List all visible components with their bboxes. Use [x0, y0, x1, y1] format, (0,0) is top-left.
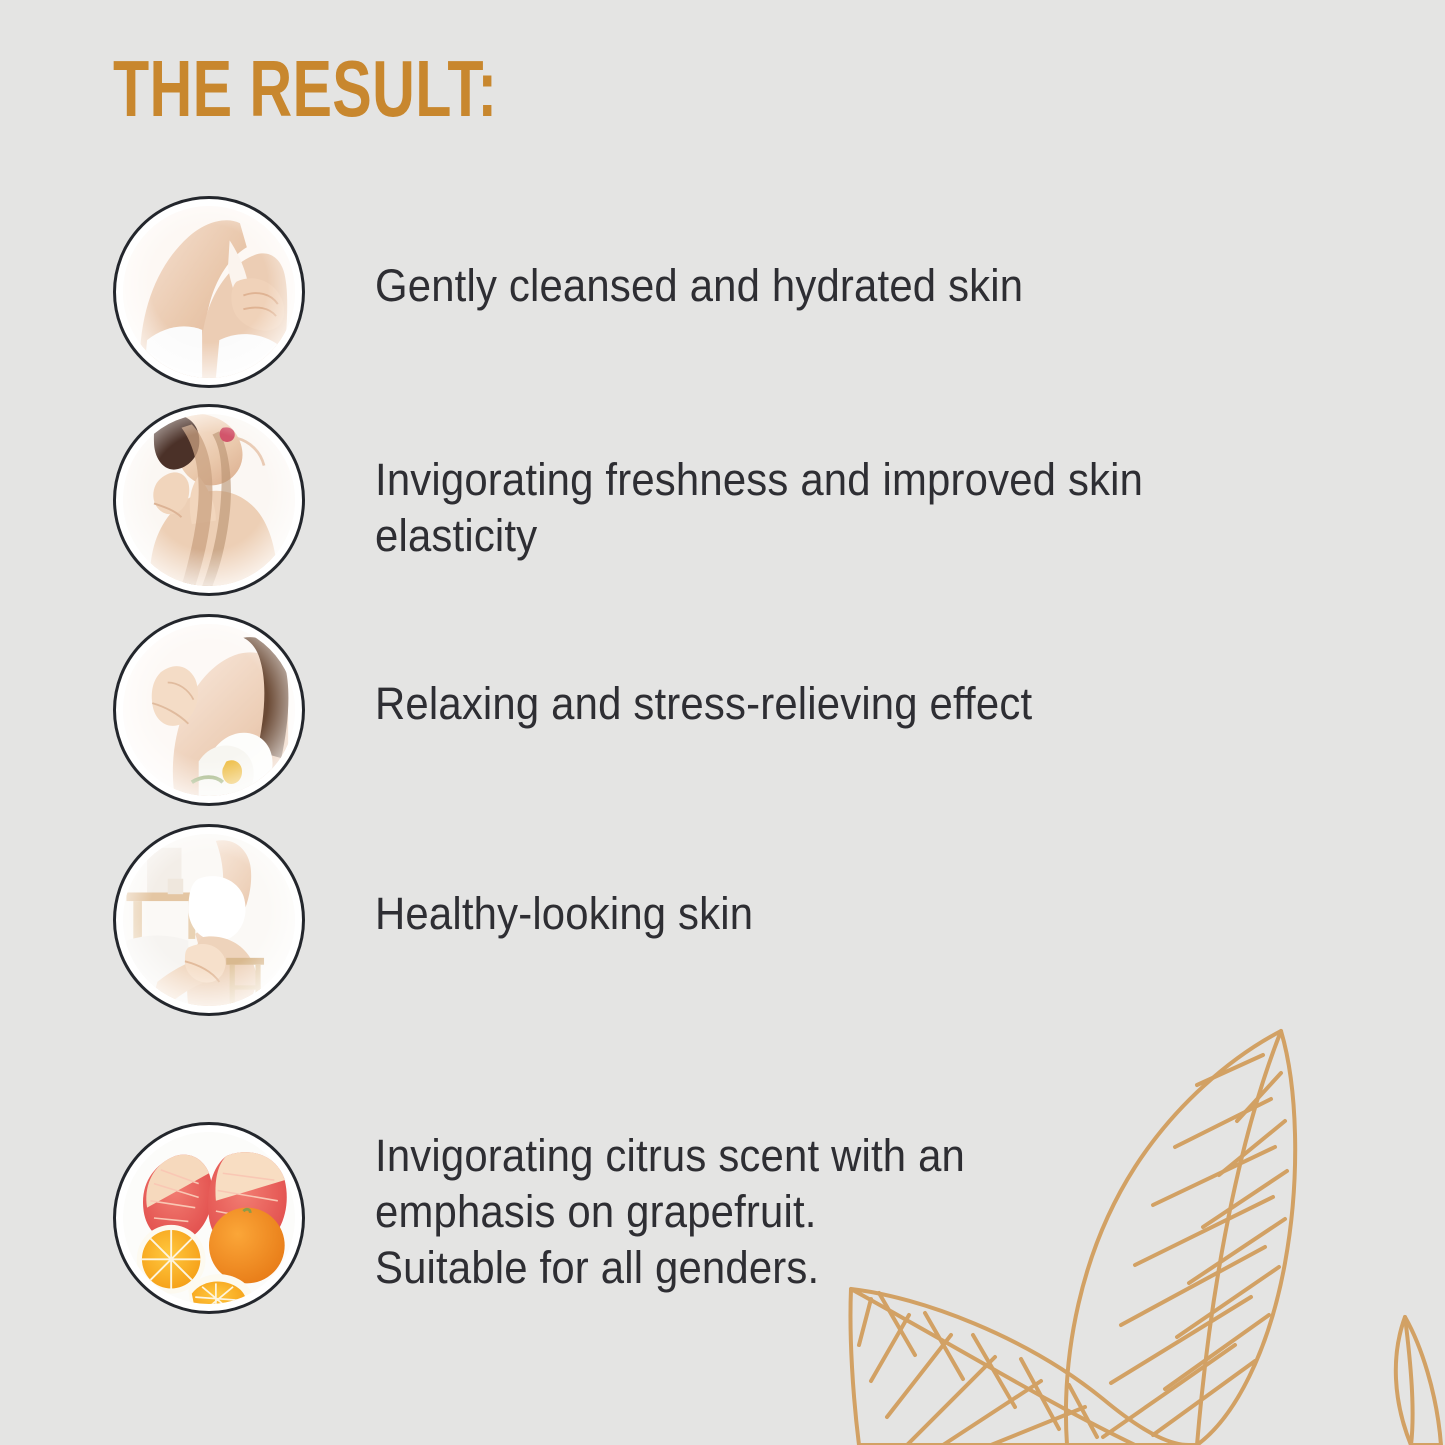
thumbnail-image-citrus-fruits: [123, 1132, 295, 1304]
list-item: Gently cleansed and hydrated skin: [113, 196, 1363, 388]
benefit-label: Healthy-looking skin: [375, 886, 753, 942]
photo-woman-applying-cream-icon: [123, 206, 295, 378]
result-benefits-poster: THE RESULT:: [0, 0, 1445, 1445]
thumbnail-image-bathroom-leg-care: [123, 834, 295, 1006]
benefit-thumbnail-gently-cleansed: [113, 196, 305, 388]
list-item: Healthy-looking skin: [113, 824, 1363, 1016]
benefit-thumbnail-healthy-looking-skin: [113, 824, 305, 1016]
benefit-label: Invigorating citrus scent with an emphas…: [375, 1128, 965, 1296]
benefit-thumbnail-citrus-scent: [113, 1122, 305, 1314]
benefit-thumbnail-relaxing-effect: [113, 614, 305, 806]
photo-woman-on-stool-icon: [123, 834, 295, 1006]
list-item: Invigorating citrus scent with an emphas…: [113, 1122, 1363, 1314]
benefit-label: Gently cleansed and hydrated skin: [375, 258, 1023, 314]
list-item: Relaxing and stress-relieving effect: [113, 614, 1363, 806]
photo-grapefruit-and-orange-icon: [123, 1132, 295, 1304]
photo-woman-touching-neck-icon: [123, 414, 295, 586]
benefit-label: Relaxing and stress-relieving effect: [375, 676, 1032, 732]
photo-shoulder-with-calla-lily-icon: [123, 624, 295, 796]
benefits-list: Gently cleansed and hydrated skin: [0, 0, 1445, 1445]
thumbnail-image-cleansed-skin: [123, 206, 295, 378]
benefit-thumbnail-invigorating-freshness: [113, 404, 305, 596]
thumbnail-image-neck-and-hair: [123, 414, 295, 586]
thumbnail-image-shoulder-with-lily: [123, 624, 295, 796]
list-item: Invigorating freshness and improved skin…: [113, 404, 1363, 596]
benefit-label: Invigorating freshness and improved skin…: [375, 452, 1143, 564]
